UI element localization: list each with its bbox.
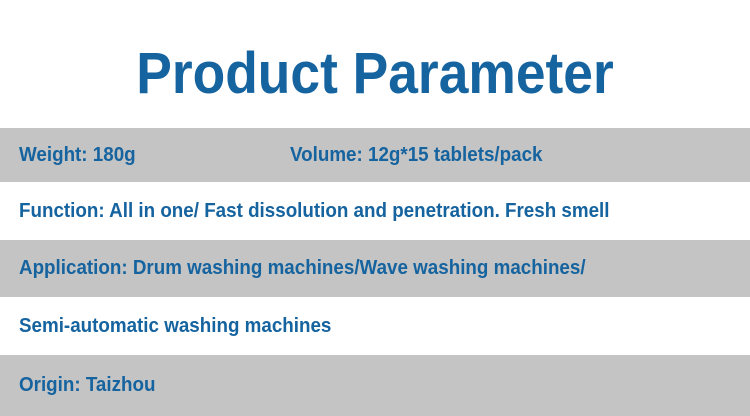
page-title: Product Parameter — [30, 44, 720, 104]
spec-value-function: Function: All in one/ Fast dissolution a… — [19, 200, 610, 223]
spec-value-origin: Origin: Taizhou — [19, 374, 155, 397]
spec-row-application: Application: Drum washing machines/Wave … — [0, 240, 750, 297]
spec-table: Weight: 180g Volume: 12g*15 tablets/pack… — [0, 128, 750, 416]
spec-row-application-continued: Semi-automatic washing machines — [0, 297, 750, 355]
spec-value-application: Application: Drum washing machines/Wave … — [19, 257, 586, 280]
product-parameter-sheet: Product Parameter Weight: 180g Volume: 1… — [0, 0, 750, 416]
spec-row-origin: Origin: Taizhou — [0, 355, 750, 416]
spec-value-application-continued: Semi-automatic washing machines — [19, 315, 331, 338]
spec-value-volume: Volume: 12g*15 tablets/pack — [290, 144, 543, 167]
spec-row-weight-volume: Weight: 180g Volume: 12g*15 tablets/pack — [0, 128, 750, 182]
spec-value-weight: Weight: 180g — [19, 144, 274, 167]
spec-row-function: Function: All in one/ Fast dissolution a… — [0, 182, 750, 240]
title-area: Product Parameter — [0, 0, 750, 128]
